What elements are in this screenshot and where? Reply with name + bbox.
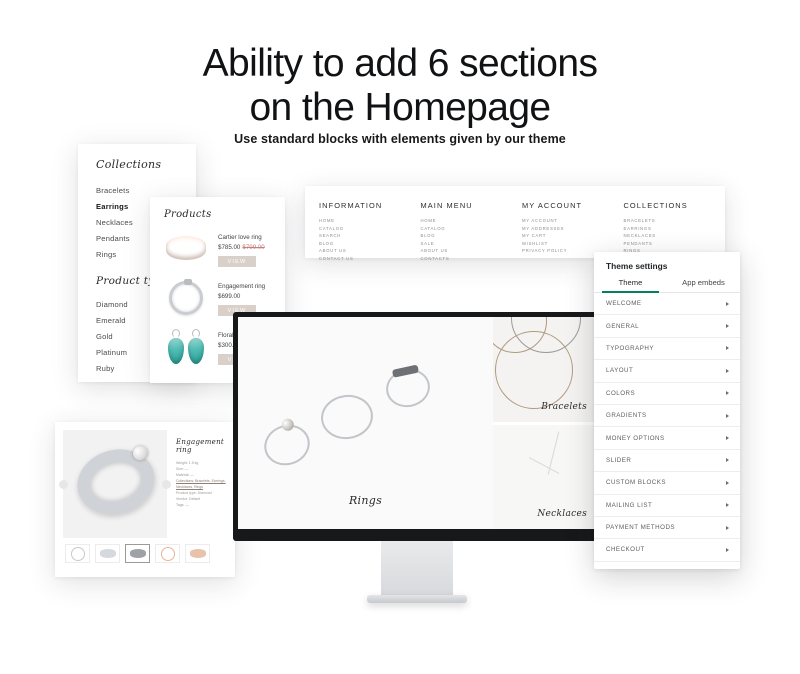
product-price-old: $799.00 (242, 244, 264, 251)
thumbnail-active-band[interactable] (125, 544, 150, 563)
settings-row-label: COLORS (606, 390, 635, 397)
slide-canvas: Ability to add 6 sections on the Homepag… (0, 0, 800, 674)
settings-row-mailing-list[interactable]: MAILING LIST (594, 495, 740, 517)
footer-link[interactable]: NECKLACES (624, 232, 726, 240)
chevron-right-icon (726, 526, 729, 530)
footer-column-heading: MAIN MENU (421, 201, 523, 210)
chevron-right-icon (726, 503, 729, 507)
settings-row-label: GRADIENTS (606, 412, 647, 419)
thumbnail-silver-band[interactable] (95, 544, 120, 563)
settings-row-label: CHECKOUT (606, 546, 645, 553)
collection-tile-rings[interactable]: Rings (238, 317, 493, 529)
footer-link[interactable]: WISHLIST (522, 240, 624, 248)
footer-link[interactable]: SALE (421, 240, 523, 248)
monitor-stand (381, 541, 453, 599)
theme-settings-tabs: Theme App embeds (594, 271, 740, 293)
footer-links-card: INFORMATION HOME CATALOG SEARCH BLOG ABO… (305, 186, 725, 258)
footer-link[interactable]: BRACELETS (624, 217, 726, 225)
page-title: Ability to add 6 sections on the Homepag… (0, 42, 800, 130)
page-title-line2: on the Homepage (0, 86, 800, 130)
footer-link[interactable]: CONTACTS (421, 255, 523, 263)
settings-row-custom-blocks[interactable]: CUSTOM BLOCKS (594, 472, 740, 494)
footer-link[interactable]: BLOG (319, 240, 421, 248)
monitor-base (367, 595, 467, 603)
settings-row-general[interactable]: GENERAL (594, 315, 740, 337)
monitor-screen: Rings Bracelets Necklaces (238, 317, 596, 529)
product-list-item[interactable]: Cartier love ring $785.00$799.00 VIEW (150, 228, 285, 277)
footer-link[interactable]: HOME (421, 217, 523, 225)
product-thumbnail-rose-gold-ring (162, 228, 210, 270)
settings-row-label: CUSTOM BLOCKS (606, 479, 666, 486)
product-price: $699.00 (218, 293, 265, 300)
tab-app-embeds[interactable]: App embeds (667, 278, 740, 292)
product-detail-image (63, 430, 167, 538)
settings-row-label: LAYOUT (606, 367, 633, 374)
settings-row-checkout[interactable]: CHECKOUT (594, 539, 740, 561)
settings-row-label: TYPOGRAPHY (606, 345, 654, 352)
settings-row-slider[interactable]: SLIDER (594, 450, 740, 472)
chevron-right-icon (726, 324, 729, 328)
chevron-right-icon (726, 458, 729, 462)
footer-link[interactable]: MY ACCOUNT (522, 217, 624, 225)
tile-label: Bracelets (541, 402, 587, 412)
footer-column-main-menu: MAIN MENU HOME CATALOG BLOG SALE ABOUT U… (421, 201, 523, 263)
chevron-right-icon (726, 346, 729, 350)
settings-row-colors[interactable]: COLORS (594, 383, 740, 405)
spec-line: Tags: — (176, 502, 227, 508)
tab-theme[interactable]: Theme (594, 278, 667, 292)
footer-column-heading: MY ACCOUNT (522, 201, 624, 210)
carousel-prev-arrow-icon[interactable] (59, 480, 68, 489)
theme-settings-rows: WELCOME GENERAL TYPOGRAPHY LAYOUT COLORS… (594, 293, 740, 562)
product-view-button[interactable]: VIEW (218, 256, 256, 267)
product-name: Cartier love ring (218, 233, 265, 242)
product-thumbnail-strip (55, 538, 235, 563)
settings-row-label: GENERAL (606, 323, 639, 330)
monitor-bezel: Rings Bracelets Necklaces (233, 312, 601, 541)
product-thumbnail-silver-ring (162, 277, 210, 319)
monitor-mockup: Rings Bracelets Necklaces (233, 312, 601, 541)
footer-link[interactable]: PENDANTS (624, 240, 726, 248)
settings-row-label: MONEY OPTIONS (606, 435, 665, 442)
footer-link[interactable]: CONTACT US (319, 255, 421, 263)
product-detail-card: Engagement ring Weight: 1.5 kg Size: — M… (55, 422, 235, 577)
footer-column-heading: INFORMATION (319, 201, 421, 210)
thumbnail-rose-ring[interactable] (155, 544, 180, 563)
settings-row-money-options[interactable]: MONEY OPTIONS (594, 427, 740, 449)
theme-settings-panel: Theme settings Theme App embeds WELCOME … (594, 252, 740, 569)
footer-link[interactable]: SEARCH (319, 232, 421, 240)
settings-row-label: SLIDER (606, 457, 631, 464)
thumbnail-rose-band[interactable] (185, 544, 210, 563)
footer-link[interactable]: BLOG (421, 232, 523, 240)
collections-item-bracelets[interactable]: Bracelets (96, 182, 196, 198)
footer-link[interactable]: ABOUT US (421, 247, 523, 255)
chevron-right-icon (726, 302, 729, 306)
footer-link[interactable]: HOME (319, 217, 421, 225)
settings-row-label: WELCOME (606, 300, 641, 307)
footer-link[interactable]: MY ADDRESSES (522, 225, 624, 233)
settings-row-payment-methods[interactable]: PAYMENT METHODS (594, 517, 740, 539)
settings-row-layout[interactable]: LAYOUT (594, 360, 740, 382)
chevron-right-icon (726, 391, 729, 395)
carousel-next-arrow-icon[interactable] (162, 480, 171, 489)
collection-tile-bracelets[interactable]: Bracelets (493, 317, 596, 422)
thumbnail-silver-ring[interactable] (65, 544, 90, 563)
product-price: $785.00$799.00 (218, 244, 265, 251)
collection-tile-necklaces[interactable]: Necklaces (493, 425, 596, 530)
product-detail-specs: Weight: 1.5 kg Size: — Material: — Colle… (176, 460, 227, 508)
footer-link[interactable]: ABOUT US (319, 247, 421, 255)
chevron-right-icon (726, 548, 729, 552)
chevron-right-icon (726, 369, 729, 373)
product-price-current: $785.00 (218, 244, 240, 251)
chevron-right-icon (726, 436, 729, 440)
chevron-right-icon (726, 414, 729, 418)
products-heading: Products (164, 209, 285, 220)
footer-column-heading: COLLECTIONS (624, 201, 726, 210)
tile-label: Necklaces (537, 509, 587, 519)
settings-row-gradients[interactable]: GRADIENTS (594, 405, 740, 427)
collections-heading: Collections (96, 158, 196, 171)
product-thumbnail-turquoise-earrings (162, 326, 210, 368)
footer-column-information: INFORMATION HOME CATALOG SEARCH BLOG ABO… (319, 201, 421, 263)
chevron-right-icon (726, 481, 729, 485)
theme-settings-title: Theme settings (594, 252, 740, 271)
page-title-line1: Ability to add 6 sections (0, 42, 800, 86)
footer-link[interactable]: CATALOG (319, 225, 421, 233)
tile-label: Rings (349, 494, 382, 507)
product-name: Engagement ring (218, 282, 265, 291)
settings-row-label: MAILING LIST (606, 502, 652, 509)
settings-row-welcome[interactable]: WELCOME (594, 293, 740, 315)
footer-link[interactable]: CATALOG (421, 225, 523, 233)
product-detail-title: Engagement ring (176, 438, 227, 454)
footer-link[interactable]: EARRINGS (624, 225, 726, 233)
settings-row-typography[interactable]: TYPOGRAPHY (594, 338, 740, 360)
settings-row-label: PAYMENT METHODS (606, 524, 675, 531)
footer-link[interactable]: MY CART (522, 232, 624, 240)
